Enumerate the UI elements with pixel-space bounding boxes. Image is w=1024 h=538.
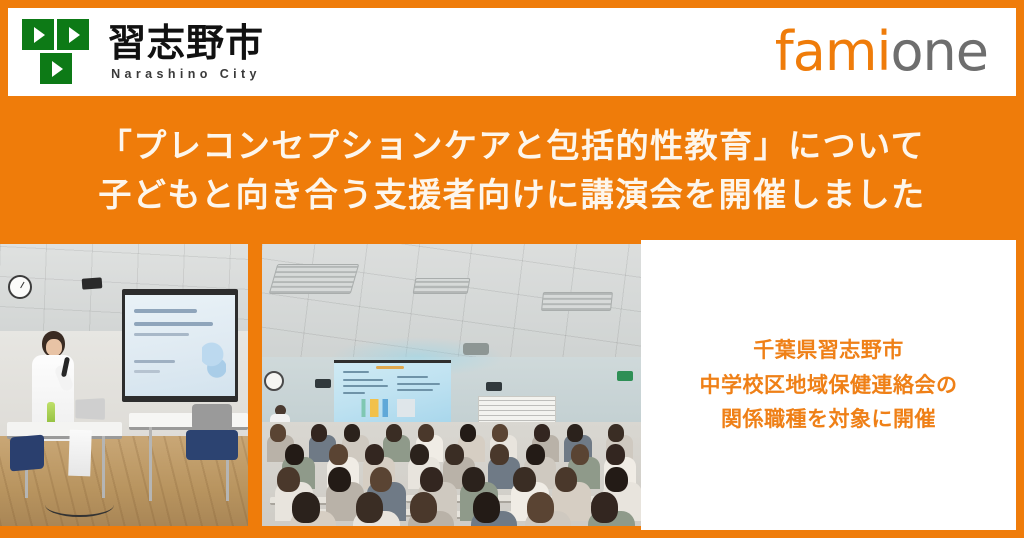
title-line-2: 子どもと向き合う支援者向けに講演会を開催しました — [98, 170, 925, 220]
audience-head — [571, 444, 590, 465]
slide-text-line — [134, 322, 213, 326]
chevron-right-icon — [52, 61, 63, 77]
audience-head — [460, 424, 476, 442]
caption-panel: 千葉県習志野市 中学校区地域保健連絡会の 関係職種を対象に開催 — [641, 240, 1016, 530]
audience-head — [462, 467, 485, 493]
ceiling-speaker — [486, 382, 502, 391]
audience-head — [292, 492, 319, 523]
air-vent — [269, 264, 359, 294]
audience-head — [329, 444, 348, 465]
audience-head — [285, 444, 304, 465]
city-logo-text: 習志野市 Narashino City — [108, 23, 264, 81]
audience-head — [365, 444, 384, 465]
lecturer-face — [46, 339, 62, 356]
caption-line-3: 関係職種を対象に開催 — [721, 402, 936, 437]
famione-brand-logo: famione — [775, 25, 994, 79]
audience-head — [277, 467, 300, 493]
audience-head — [606, 444, 625, 465]
brand-fami-text: fami — [775, 20, 891, 83]
chair-left — [10, 434, 44, 471]
audience-head — [270, 424, 286, 442]
audience-head — [445, 444, 464, 465]
audience-head — [410, 492, 437, 523]
mark-square-top-left — [22, 19, 54, 50]
air-vent — [541, 292, 613, 311]
city-logo: 習志野市 Narashino City — [22, 17, 264, 87]
audience-photo-scene — [262, 244, 641, 526]
caption-line-2: 中学校区地域保健連絡会の — [700, 368, 958, 403]
slide-text-line — [134, 333, 189, 336]
audience-head — [608, 424, 624, 442]
caption-line-1: 千葉県習志野市 — [753, 333, 904, 368]
ceiling-projector — [463, 343, 489, 355]
brand-one-text: one — [891, 20, 989, 83]
lecturer-photo-scene — [0, 244, 248, 526]
laptop — [76, 398, 106, 420]
audience-head — [418, 424, 434, 442]
slide-text-line — [134, 309, 198, 313]
slide-text-line — [343, 392, 364, 394]
ceiling-speaker — [81, 277, 102, 289]
slide-text-line — [397, 383, 439, 385]
ceiling-speaker — [315, 379, 331, 388]
audience-head — [473, 492, 500, 523]
banner-root: 習志野市 Narashino City famione 「プレコンセプションケア… — [0, 0, 1024, 538]
audience-head — [386, 424, 402, 442]
audience-head — [591, 492, 618, 523]
audience-head — [567, 424, 583, 442]
slide-illustration — [202, 340, 226, 381]
header-bar: 習志野市 Narashino City famione — [8, 8, 1016, 96]
slide-illustration — [357, 399, 427, 417]
title-band: 「プレコンセプションケアと包括的性教育」について 子どもと向き合う支援者向けに講… — [0, 100, 1024, 240]
audience-photo — [262, 244, 641, 526]
audience-head — [490, 444, 509, 465]
audience-head — [328, 467, 351, 493]
projection-screen — [125, 295, 235, 397]
slide-text-line — [343, 371, 369, 373]
wall-clock-icon — [264, 371, 284, 391]
air-vent — [412, 278, 470, 294]
lecturer-photo — [0, 244, 248, 526]
audience-head — [356, 492, 383, 523]
wall-clock-icon — [8, 275, 32, 299]
slide-text-line — [397, 376, 428, 378]
chair-right — [186, 430, 238, 460]
narashino-city-mark-icon — [22, 17, 94, 87]
audience-head — [605, 467, 628, 493]
exit-sign-icon — [617, 371, 633, 381]
slide-title-line — [376, 366, 404, 369]
audience-head — [527, 492, 554, 523]
audience-head — [370, 467, 393, 493]
audience-head — [344, 424, 360, 442]
city-name-japanese: 習志野市 — [108, 23, 264, 63]
slide-text-line — [397, 389, 432, 391]
slide-text-line — [134, 370, 160, 373]
audience-head — [526, 444, 545, 465]
floor-cable — [45, 492, 114, 517]
projection-screen — [334, 360, 451, 422]
audience-head — [410, 444, 429, 465]
audience-head — [492, 424, 508, 442]
audience-head — [513, 467, 536, 493]
audience-head — [311, 424, 327, 442]
audience-head — [534, 424, 550, 442]
audience-head — [555, 467, 578, 493]
mark-square-bottom — [40, 53, 72, 84]
mark-square-top-right — [57, 19, 89, 50]
slide-text-line — [343, 385, 388, 387]
audience-head — [420, 467, 443, 493]
projection-screen-frame — [122, 289, 239, 402]
city-name-romanized: Narashino City — [108, 67, 264, 81]
slide-text-line — [343, 379, 383, 381]
chevron-right-icon — [34, 27, 45, 43]
title-line-1: 「プレコンセプションケアと包括的性教育」について — [99, 121, 925, 171]
chevron-right-icon — [69, 27, 80, 43]
slide-text-line — [134, 360, 176, 363]
